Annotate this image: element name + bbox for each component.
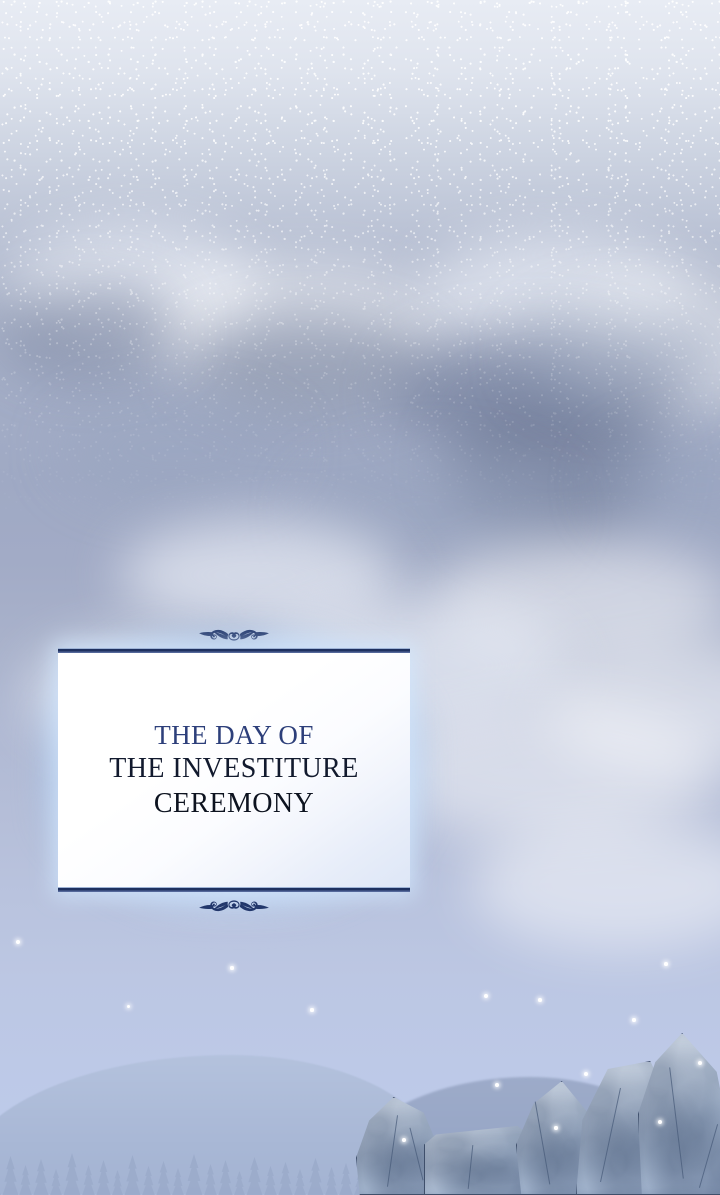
pine-tree bbox=[277, 1162, 294, 1195]
pine-tree bbox=[203, 1164, 218, 1195]
cloud bbox=[470, 820, 720, 950]
title-line-2: THE INVESTITURE bbox=[109, 753, 358, 785]
snowflake bbox=[16, 940, 20, 944]
pine-tree bbox=[245, 1157, 264, 1195]
pine-tree bbox=[81, 1165, 96, 1195]
snowflake bbox=[310, 1008, 313, 1011]
title-line-3: CEREMONY bbox=[154, 788, 314, 820]
title-card: THE DAY OF THE INVESTITURE CEREMONY bbox=[58, 642, 410, 898]
snowflake bbox=[127, 1005, 130, 1008]
snowflake bbox=[664, 962, 668, 966]
ice-rock bbox=[638, 1033, 720, 1195]
scroll-flourish-ornament-top bbox=[168, 621, 300, 647]
pine-tree bbox=[111, 1170, 124, 1195]
snowflake bbox=[538, 998, 542, 1002]
pine-tree bbox=[184, 1154, 204, 1195]
snowflake bbox=[554, 1126, 557, 1129]
pine-tree bbox=[263, 1166, 278, 1195]
scroll-flourish-ornament-bottom bbox=[168, 894, 300, 920]
webtoon-panel: THE DAY OF THE INVESTITURE CEREMONY bbox=[0, 0, 720, 1195]
pine-tree bbox=[62, 1153, 82, 1195]
pine-tree bbox=[32, 1159, 50, 1195]
snow-particle-texture bbox=[0, 0, 720, 520]
pine-tree bbox=[18, 1165, 33, 1195]
snowflake bbox=[584, 1072, 588, 1076]
snowflake bbox=[402, 1138, 406, 1142]
snowflake bbox=[230, 966, 233, 969]
snowflake bbox=[632, 1018, 635, 1021]
pine-tree bbox=[217, 1160, 234, 1195]
title-text-block: THE DAY OF THE INVESTITURE CEREMONY bbox=[58, 648, 410, 892]
pine-tree bbox=[141, 1166, 156, 1195]
pine-tree bbox=[123, 1155, 142, 1195]
pine-tree bbox=[49, 1169, 63, 1195]
pine-tree bbox=[171, 1168, 185, 1195]
pine-tree bbox=[293, 1169, 307, 1195]
title-line-1: THE DAY OF bbox=[154, 720, 314, 751]
pine-tree bbox=[233, 1171, 246, 1195]
pine-tree bbox=[95, 1160, 112, 1195]
pine-tree bbox=[1, 1156, 20, 1195]
pine-tree bbox=[0, 1168, 2, 1195]
title-card-box: THE DAY OF THE INVESTITURE CEREMONY bbox=[58, 648, 410, 892]
pine-tree bbox=[155, 1161, 172, 1195]
